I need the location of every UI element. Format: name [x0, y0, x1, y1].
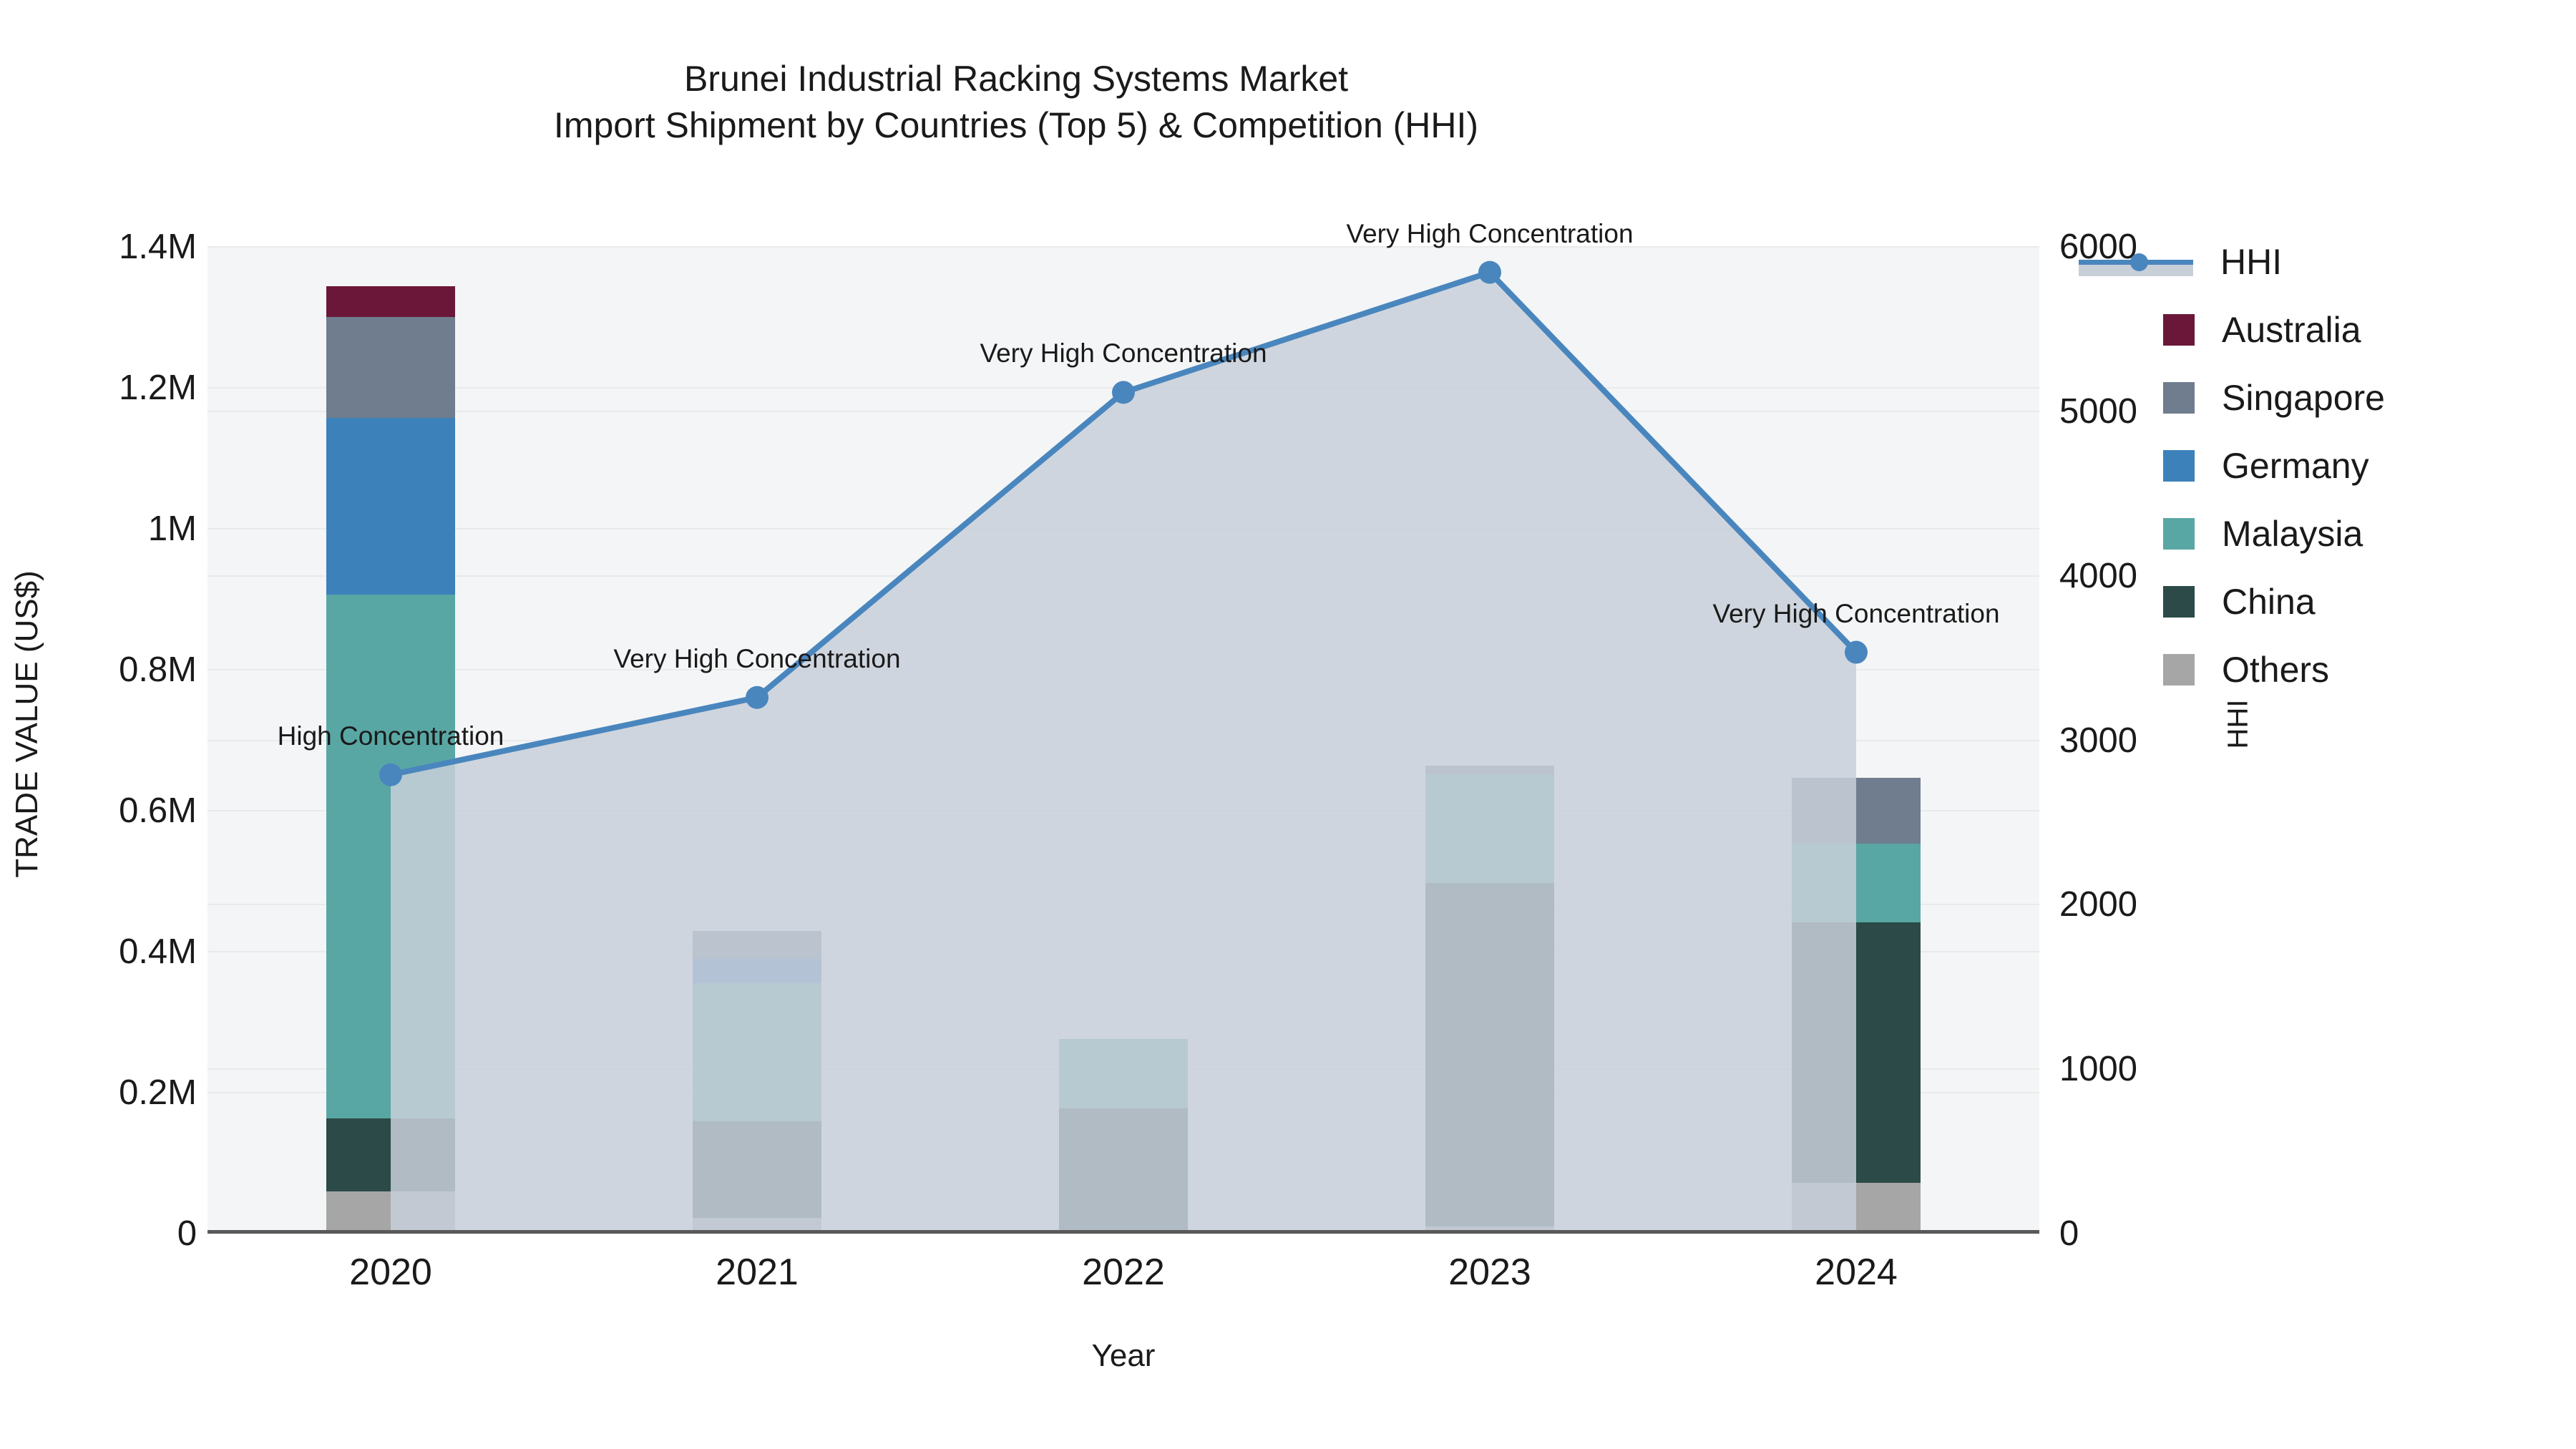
- legend-item-germany[interactable]: Germany: [2079, 431, 2565, 499]
- x-axis-tick-2020: 2020: [349, 1251, 432, 1294]
- y-axis-right-tick: 2000: [2059, 884, 2137, 924]
- legend-item-singapore[interactable]: Singapore: [2079, 364, 2565, 431]
- y-axis-right-label: HHI: [2223, 700, 2255, 749]
- y-axis-right-tick: 1000: [2059, 1049, 2137, 1089]
- legend-line-key-icon: [2079, 246, 2193, 278]
- y-axis-left-label: TRADE VALUE (US$): [9, 570, 45, 878]
- legend-item-others[interactable]: Others: [2079, 635, 2565, 703]
- x-axis-tick-2021: 2021: [716, 1251, 799, 1294]
- hhi-data-point-2022[interactable]: [1112, 381, 1135, 404]
- hhi-data-point-2023[interactable]: [1478, 261, 1501, 284]
- hhi-annotation-2021: Very High Concentration: [613, 644, 900, 674]
- chart-canvas: Brunei Industrial Racking Systems Market…: [0, 0, 2576, 1449]
- x-axis-tick-2023: 2023: [1448, 1251, 1531, 1294]
- y-axis-left-tick: 0.8M: [119, 650, 197, 690]
- x-axis-line: [208, 1230, 2039, 1234]
- hhi-area-fill: [391, 273, 1856, 1234]
- hhi-data-point-2024[interactable]: [1845, 641, 1868, 664]
- legend-item-hhi[interactable]: HHI: [2079, 228, 2565, 296]
- legend-item-malaysia[interactable]: Malaysia: [2079, 499, 2565, 567]
- x-axis-tick-2024: 2024: [1815, 1251, 1898, 1294]
- legend-swatch-icon: [2163, 654, 2195, 686]
- y-axis-left-tick: 0.6M: [119, 791, 197, 831]
- hhi-annotation-2020: High Concentration: [278, 721, 504, 751]
- y-axis-left-tick: 1.2M: [119, 368, 197, 408]
- y-axis-right-tick: 0: [2059, 1214, 2079, 1254]
- chart-title: Brunei Industrial Racking Systems Market…: [0, 56, 2032, 149]
- chart-title-line-1: Brunei Industrial Racking Systems Market: [0, 56, 2032, 102]
- legend-swatch-icon: [2163, 382, 2195, 414]
- legend-item-label: HHI: [2220, 241, 2282, 283]
- legend-item-australia[interactable]: Australia: [2079, 296, 2565, 364]
- x-axis-tick-2022: 2022: [1082, 1251, 1165, 1294]
- legend-swatch-icon: [2163, 450, 2195, 482]
- y-axis-left-tick: 0.2M: [119, 1073, 197, 1113]
- y-axis-right-tick: 3000: [2059, 721, 2137, 761]
- legend-swatch-icon: [2163, 314, 2195, 346]
- chart-legend: HHIAustraliaSingaporeGermanyMalaysiaChin…: [2079, 228, 2565, 703]
- y-axis-left-tick: 1M: [148, 509, 197, 549]
- y-axis-left-tick: 1.4M: [119, 227, 197, 267]
- plot-area: High ConcentrationVery High Concentratio…: [208, 215, 2039, 1234]
- chart-title-line-2: Import Shipment by Countries (Top 5) & C…: [0, 102, 2032, 149]
- legend-item-label: Australia: [2222, 309, 2361, 351]
- y-axis-left-tick: 0: [177, 1214, 197, 1254]
- legend-swatch-icon: [2163, 586, 2195, 618]
- legend-item-label: Others: [2222, 649, 2329, 691]
- legend-item-china[interactable]: China: [2079, 567, 2565, 635]
- legend-item-label: China: [2222, 581, 2316, 623]
- hhi-data-point-2020[interactable]: [379, 763, 402, 786]
- legend-item-label: Singapore: [2222, 377, 2385, 419]
- hhi-annotation-2024: Very High Concentration: [1712, 599, 1999, 629]
- hhi-annotation-2022: Very High Concentration: [980, 338, 1267, 369]
- legend-item-label: Malaysia: [2222, 513, 2363, 555]
- hhi-data-point-2021[interactable]: [746, 686, 769, 709]
- hhi-annotation-2023: Very High Concentration: [1346, 219, 1633, 249]
- legend-item-label: Germany: [2222, 445, 2369, 487]
- legend-swatch-icon: [2163, 518, 2195, 550]
- x-axis-label: Year: [1092, 1338, 1156, 1374]
- y-axis-left-tick: 0.4M: [119, 932, 197, 972]
